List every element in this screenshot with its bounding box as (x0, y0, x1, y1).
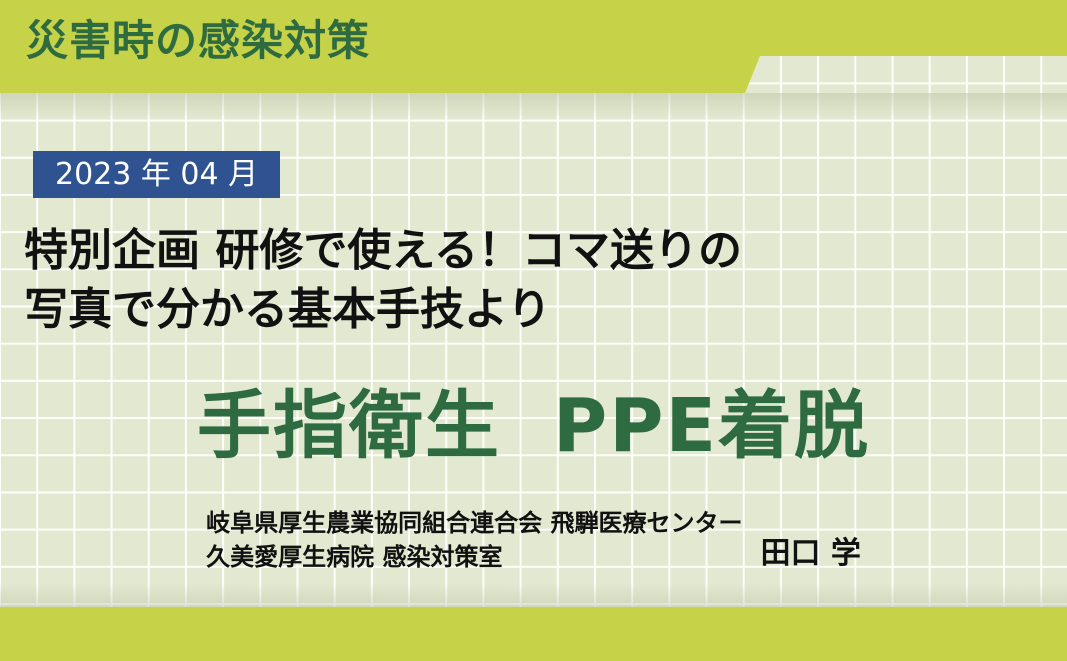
title-line-1: 特別企画 研修で使える！コマ送りの (24, 222, 984, 281)
bottom-banner (0, 607, 1067, 661)
headline-part-2: PPE着脱 (553, 383, 870, 469)
title-block: 特別企画 研修で使える！コマ送りの 写真で分かる基本手技より (24, 222, 984, 339)
grid-shadow-bottom (0, 583, 1067, 607)
series-title: 災害時の感染対策 (26, 17, 370, 65)
affiliation-line-1: 岐阜県厚生農業協同組合連合会 飛騨医療センター (206, 506, 742, 540)
affiliation: 岐阜県厚生農業協同組合連合会 飛騨医療センター 久美愛厚生病院 感染対策室 (206, 506, 742, 574)
footer-area: 岐阜県厚生農業協同組合連合会 飛騨医療センター 久美愛厚生病院 感染対策室 田口… (0, 506, 1067, 574)
affiliation-line-2: 久美愛厚生病院 感染対策室 (206, 540, 742, 574)
slide-canvas: 災害時の感染対策 2023 年 04 月 特別企画 研修で使える！コマ送りの 写… (0, 0, 1067, 661)
headline: 手指衛生PPE着脱 (0, 385, 1067, 468)
grid-shadow-top (0, 93, 1067, 119)
headline-part-1: 手指衛生 (197, 383, 501, 469)
top-banner: 災害時の感染対策 (0, 0, 1067, 95)
author-name: 田口 学 (760, 528, 860, 574)
title-line-2: 写真で分かる基本手技より (24, 281, 984, 340)
date-badge: 2023 年 04 月 (33, 151, 280, 198)
